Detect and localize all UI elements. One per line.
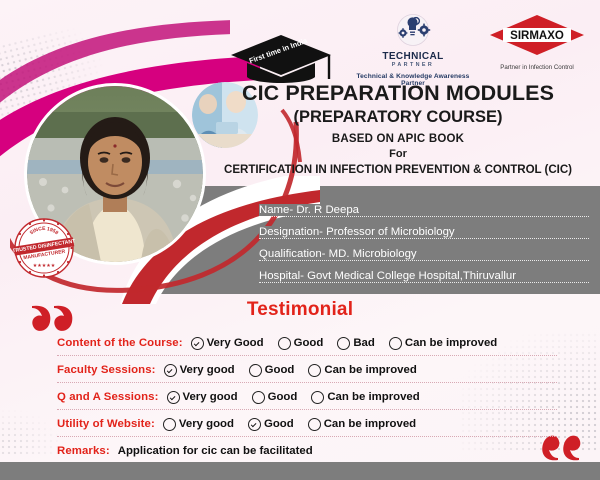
option-4[interactable]: Can be improved: [389, 337, 497, 350]
option-label: Very good: [183, 391, 238, 403]
row-underline: [57, 436, 557, 437]
profile-info-lines: Name- Dr. R DeepaDesignation- Professor …: [259, 199, 589, 287]
testimonial-heading: Testimonial: [0, 299, 600, 321]
sirmaxo-name: SIRMAXO: [510, 30, 564, 42]
testimonial-poster: SINCE 1958 TRUSTED DISINFECTANT MANUFACT…: [0, 0, 600, 480]
radio-icon[interactable]: [252, 391, 265, 404]
page-title: CIC PREPARATION MODULES: [196, 82, 600, 105]
option-label: Can be improved: [405, 337, 497, 349]
testimonial-row: Q and A Sessions:Very goodGoodCan be imp…: [57, 385, 557, 412]
radio-icon[interactable]: [337, 337, 350, 350]
certification-text: CERTIFICATION IN INFECTION PREVENTION & …: [196, 163, 600, 176]
profile-line-dots: [259, 238, 589, 239]
option-3[interactable]: Can be improved: [308, 418, 416, 431]
sirmaxo-tagline: Partner in Infection Control: [474, 64, 600, 71]
remarks-value[interactable]: Application for cic can be facilitated: [118, 445, 313, 457]
profile-line-text: Name- Dr. R Deepa: [259, 204, 363, 216]
option-2[interactable]: Good: [249, 364, 295, 377]
option-label: Good: [265, 364, 295, 376]
option-1[interactable]: Very Good: [191, 337, 264, 350]
option-label: Good: [268, 391, 298, 403]
checked-radio-icon[interactable]: [248, 418, 261, 431]
radio-icon[interactable]: [278, 337, 291, 350]
row-underline: [57, 382, 557, 383]
bottom-bar: [0, 462, 600, 480]
option-label: Good: [294, 337, 324, 349]
option-label: Can be improved: [327, 391, 419, 403]
based-on-text: BASED ON APIC BOOK: [196, 133, 600, 145]
trusted-manufacturer-seal: SINCE 1958 TRUSTED DISINFECTANT MANUFACT…: [13, 217, 75, 279]
profile-line-dots: [259, 282, 589, 283]
partner-logos: TECHNICAL PARTNER Technical & Knowledge …: [230, 14, 600, 76]
radio-icon[interactable]: [389, 337, 402, 350]
option-label: Very good: [179, 418, 234, 430]
profile-line-dots: [259, 216, 589, 217]
checked-radio-icon[interactable]: [191, 337, 204, 350]
testimonial-rows: Content of the Course:Very GoodGoodBadCa…: [57, 331, 557, 466]
question-label: Content of the Course:: [57, 337, 183, 349]
radio-icon[interactable]: [163, 418, 176, 431]
option-label: Can be improved: [324, 364, 416, 376]
profile-line: Qualification- MD. Microbiology: [259, 243, 589, 265]
option-3[interactable]: Can be improved: [308, 364, 416, 377]
title-block: CIC PREPARATION MODULES (PREPARATORY COU…: [196, 82, 600, 176]
testimonial-row: Content of the Course:Very GoodGoodBadCa…: [57, 331, 557, 358]
checked-radio-icon[interactable]: [164, 364, 177, 377]
question-label: Faculty Sessions:: [57, 364, 156, 376]
question-label: Q and A Sessions:: [57, 391, 159, 403]
option-label: Very Good: [207, 337, 264, 349]
svg-text:★★★★★: ★★★★★: [33, 263, 56, 269]
radio-icon[interactable]: [308, 364, 321, 377]
profile-line-text: Hospital- Govt Medical College Hospital,…: [259, 270, 520, 282]
technical-partner-logo: TECHNICAL PARTNER Technical & Knowledge …: [348, 14, 478, 87]
option-1[interactable]: Very good: [164, 364, 235, 377]
technical-partner-name: TECHNICAL: [348, 52, 478, 62]
profile-line-dots: [259, 260, 589, 261]
radio-icon[interactable]: [311, 391, 324, 404]
page-subtitle: (PREPARATORY COURSE): [196, 107, 600, 128]
profile-line: Designation- Professor of Microbiology: [259, 221, 589, 243]
option-3[interactable]: Can be improved: [311, 391, 419, 404]
row-underline: [57, 409, 557, 410]
profile-line: Name- Dr. R Deepa: [259, 199, 589, 221]
option-label: Bad: [353, 337, 375, 349]
for-text: For: [196, 148, 600, 160]
radio-icon[interactable]: [308, 418, 321, 431]
row-underline: [57, 355, 557, 356]
checked-radio-icon[interactable]: [167, 391, 180, 404]
option-2[interactable]: Good: [278, 337, 324, 350]
option-2[interactable]: Good: [252, 391, 298, 404]
option-1[interactable]: Very good: [167, 391, 238, 404]
option-label: Very good: [180, 364, 235, 376]
question-label: Utility of Website:: [57, 418, 155, 430]
technical-partner-sub: PARTNER: [348, 62, 478, 70]
sirmaxo-logo: SIRMAXO Partner in Infection Control: [474, 14, 600, 71]
radio-icon[interactable]: [249, 364, 262, 377]
profile-line-text: Qualification- MD. Microbiology: [259, 248, 421, 260]
halftone-dots-bottom-left: [0, 408, 64, 454]
testimonial-row: Utility of Website:Very goodGoodCan be i…: [57, 412, 557, 439]
sirmaxo-diamond-icon: SIRMAXO: [489, 14, 585, 56]
gear-bulb-icon: [390, 14, 436, 46]
profile-line-text: Designation- Professor of Microbiology: [259, 226, 459, 238]
option-label: Can be improved: [324, 418, 416, 430]
testimonial-row: Faculty Sessions:Very goodGoodCan be imp…: [57, 358, 557, 385]
remarks-label: Remarks:: [57, 445, 110, 457]
option-label: Good: [264, 418, 294, 430]
option-2[interactable]: Good: [248, 418, 294, 431]
profile-line: Hospital- Govt Medical College Hospital,…: [259, 265, 589, 287]
option-1[interactable]: Very good: [163, 418, 234, 431]
option-3[interactable]: Bad: [337, 337, 375, 350]
